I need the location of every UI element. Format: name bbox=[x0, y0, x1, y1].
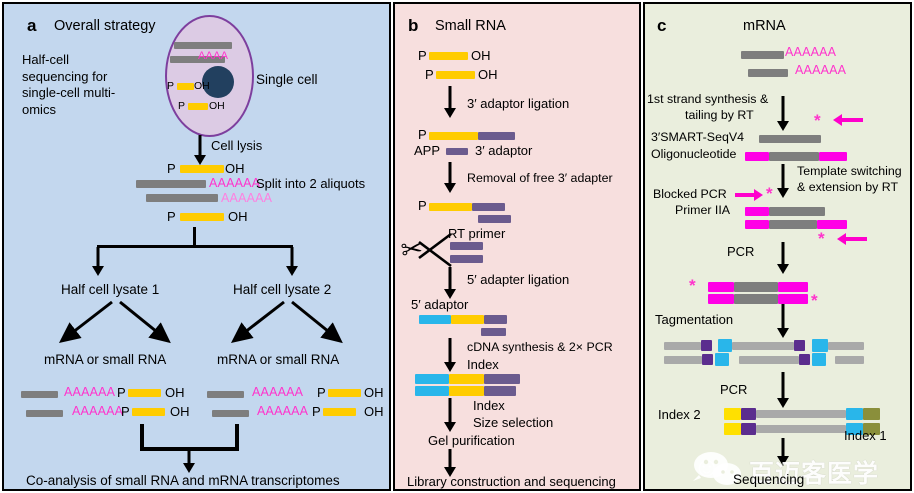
c-blocked-primer-arrow bbox=[735, 189, 763, 201]
b-app-label: APP bbox=[414, 143, 440, 158]
label-5prime-adaptor: 5′ adaptor bbox=[411, 297, 468, 312]
c-tag-r2-cyan-2 bbox=[812, 353, 826, 366]
label-split-aliquots: Split into 2 aliquots bbox=[256, 176, 366, 192]
lysate-small-rna-bar-bottom bbox=[180, 213, 224, 221]
left-group-polyA-1: AAAAAA bbox=[64, 385, 115, 399]
label-extension-by-rt: & extension by RT bbox=[797, 180, 898, 195]
c-pcr-gray-1 bbox=[734, 282, 778, 292]
right-group-polyA-2: AAAAAA bbox=[257, 404, 308, 418]
c-tag-r1-gray-1 bbox=[664, 342, 701, 350]
scissors-cut-lines bbox=[413, 232, 459, 270]
c-step2-magenta-right bbox=[817, 220, 847, 229]
b-final-cyan-2 bbox=[415, 386, 449, 396]
c-pcr-magenta-left-1 bbox=[708, 282, 734, 292]
label-template-switching: Template switching bbox=[797, 164, 902, 179]
label-index-bottom: Index bbox=[473, 398, 505, 413]
lysate-rna-bottom-oh: OH bbox=[228, 209, 248, 224]
b-3prime-adaptor-bar bbox=[478, 132, 515, 140]
cell-rna2-oh: OH bbox=[209, 99, 225, 114]
b-start-rna2-oh: OH bbox=[478, 67, 498, 82]
arrow-cell-lysis bbox=[192, 135, 208, 165]
c-final-cyan-1 bbox=[846, 408, 863, 420]
label-3prime-adaptor-ligation: 3′ adaptor ligation bbox=[467, 96, 569, 111]
b-final-yellow-2 bbox=[449, 386, 484, 396]
b-start-rna2-p: P bbox=[425, 67, 434, 82]
merge-stem-right bbox=[235, 424, 239, 449]
label-oligonucleotide: Oligonucleotide bbox=[651, 147, 736, 162]
b-free-adaptor-bar bbox=[446, 148, 468, 155]
left-group-rna1-p: P bbox=[117, 385, 126, 400]
label-co-analysis: Co-analysis of small RNA and mRNA transc… bbox=[26, 473, 340, 488]
panel-a-overall-strategy: a Overall strategy Half-cell sequencing … bbox=[2, 2, 391, 491]
figure-root: a Overall strategy Half-cell sequencing … bbox=[0, 0, 914, 493]
left-group-rna2-oh: OH bbox=[170, 404, 190, 419]
c-tag-r1-cyan-2 bbox=[812, 339, 828, 352]
right-group-polyA-1: AAAAAA bbox=[252, 385, 303, 399]
right-group-small-rna-bar-2 bbox=[323, 408, 356, 416]
c-pcr-magenta-left-2 bbox=[708, 294, 734, 304]
panel-c-letter: c bbox=[657, 16, 666, 36]
split-stem bbox=[193, 227, 196, 247]
panel-a-intro-text: Half-cell sequencing for single-cell mul… bbox=[22, 52, 137, 118]
label-primer-iia: Primer IIA bbox=[675, 203, 730, 218]
c-tag-r1-purple-1 bbox=[701, 340, 712, 351]
label-branch-1: mRNA or small RNA bbox=[44, 352, 166, 367]
arrow-1st-strand-synthesis bbox=[775, 96, 791, 131]
c-tag-r2-gray-2 bbox=[739, 356, 799, 364]
panel-b-letter: b bbox=[408, 16, 418, 36]
c-tag-r2-cyan-1 bbox=[715, 353, 729, 366]
arrow-to-coanalysis bbox=[181, 449, 197, 473]
lysate-rna-top-oh: OH bbox=[225, 161, 245, 176]
label-index-2: Index 2 bbox=[658, 407, 701, 422]
lysate-small-rna-bar-top bbox=[180, 165, 224, 173]
c-smart-oligo-bar-left bbox=[745, 152, 769, 161]
b-ligated-p: P bbox=[418, 127, 427, 142]
c-tag-r1-gray-2 bbox=[732, 342, 794, 350]
c-final-gray-1 bbox=[756, 410, 846, 418]
c-tag-r1-cyan-1 bbox=[718, 339, 732, 352]
c-mrna-polyA-2: AAAAAA bbox=[795, 63, 846, 77]
c-final-gray-2 bbox=[756, 425, 846, 433]
c-asterisk-5: * bbox=[811, 292, 818, 309]
label-removal-free-3prime-adapter: Removal of free 3′ adapter bbox=[467, 171, 613, 186]
arrow-tagmentation bbox=[775, 304, 791, 338]
b-ligated-rna-bar bbox=[429, 132, 478, 140]
right-group-small-rna-bar-1 bbox=[328, 389, 361, 397]
label-pcr-2: PCR bbox=[720, 382, 747, 397]
arrow-pcr-1 bbox=[775, 242, 791, 274]
label-tailing-by-rt: tailing by RT bbox=[685, 108, 754, 123]
branch-arrows-lysate-2 bbox=[226, 300, 346, 346]
c-asterisk-2: * bbox=[766, 185, 773, 202]
lysate-rna-bottom-p: P bbox=[167, 209, 176, 224]
c-tag-r1-purple-2 bbox=[794, 340, 805, 351]
arrow-3prime-ligation bbox=[442, 86, 458, 118]
label-half-cell-lysate-1: Half cell lysate 1 bbox=[61, 282, 159, 297]
b-removed-p: P bbox=[418, 198, 427, 213]
b-start-rna1-p: P bbox=[418, 48, 427, 63]
c-asterisk-3: * bbox=[818, 230, 825, 247]
arrow-to-lysate-1 bbox=[90, 247, 106, 276]
panel-a-letter: a bbox=[27, 16, 36, 36]
b-5prime-adaptor-bar bbox=[419, 315, 451, 324]
b-final-yellow-1 bbox=[449, 374, 484, 384]
c-tag-r2-purple-2 bbox=[799, 354, 810, 365]
arrow-to-lysate-2 bbox=[284, 247, 300, 276]
c-tag-r1-gray-3 bbox=[828, 342, 864, 350]
label-half-cell-lysate-2: Half cell lysate 2 bbox=[233, 282, 331, 297]
c-final-yellow-1 bbox=[724, 408, 741, 420]
c-cdna-gray-bar-2 bbox=[769, 152, 819, 161]
right-group-rna1-p: P bbox=[317, 385, 326, 400]
c-final-purple-1 bbox=[741, 408, 756, 420]
label-smart-seqv4: 3′SMART-SeqV4 bbox=[651, 130, 744, 145]
arrow-size-selection bbox=[442, 398, 458, 432]
label-blocked-pcr: Blocked PCR bbox=[653, 187, 727, 202]
c-pcr-magenta-right-1 bbox=[778, 282, 808, 292]
label-5prime-adapter-ligation: 5′ adapter ligation bbox=[467, 272, 569, 287]
label-library-construction-sequencing: Library construction and sequencing bbox=[407, 474, 616, 489]
left-group-polyA-2: AAAAAA bbox=[72, 404, 123, 418]
c-step2-gray-1 bbox=[769, 207, 825, 216]
c-final-yellow-2 bbox=[724, 423, 741, 435]
left-group-rna1-oh: OH bbox=[165, 385, 185, 400]
arrow-removal-free-adapter bbox=[442, 162, 458, 193]
c-step2-gray-2 bbox=[769, 220, 817, 229]
left-group-small-rna-bar-2 bbox=[132, 408, 165, 416]
label-index-1: Index 1 bbox=[844, 428, 887, 443]
right-group-rna2-p: P bbox=[312, 404, 321, 419]
c-step2-magenta-left-1 bbox=[745, 207, 769, 216]
left-group-mrna-bar-2 bbox=[26, 410, 63, 417]
b-start-small-rna-bar-2 bbox=[436, 71, 475, 79]
cell-polyA-tail: AAAA bbox=[198, 50, 228, 62]
cell-rna1-oh: OH bbox=[194, 79, 210, 94]
left-group-small-rna-bar-1 bbox=[128, 389, 161, 397]
label-3prime-adaptor: 3′ adaptor bbox=[475, 143, 532, 158]
c-primer-arrow-2 bbox=[837, 233, 867, 245]
label-1st-strand-synthesis: 1st strand synthesis & bbox=[647, 92, 768, 107]
right-group-rna1-oh: OH bbox=[364, 385, 384, 400]
label-index-top: Index bbox=[467, 357, 499, 372]
b-final-purple-2 bbox=[484, 386, 516, 396]
lysate-mrna-bar-2 bbox=[146, 194, 218, 202]
split-crossbar bbox=[97, 245, 293, 248]
label-cell-lysis: Cell lysis bbox=[211, 138, 262, 153]
label-branch-2: mRNA or small RNA bbox=[217, 352, 339, 367]
single-cell-label: Single cell bbox=[256, 72, 318, 87]
arrow-cdna-synthesis-pcr bbox=[442, 338, 458, 372]
c-cdna-gray-bar-1 bbox=[759, 135, 821, 143]
panel-c-mrna: c mRNA AAAAAA AAAAAA 1st strand synthesi… bbox=[643, 2, 912, 491]
arrow-5prime-ligation bbox=[442, 267, 458, 299]
b-rna-bar-after5 bbox=[451, 315, 484, 324]
arrow-pcr-2 bbox=[775, 372, 791, 408]
b-start-small-rna-bar-1 bbox=[429, 52, 468, 60]
c-pcr-gray-2 bbox=[734, 294, 778, 304]
left-group-rna2-p: P bbox=[121, 404, 130, 419]
b-rt-primer-bar-1 bbox=[478, 215, 511, 223]
label-cdna-synthesis-pcr: cDNA synthesis & 2× PCR bbox=[467, 340, 613, 355]
c-tag-r2-gray-1 bbox=[664, 356, 702, 364]
cell-small-rna-bar-2 bbox=[188, 103, 208, 110]
c-tag-r2-purple-1 bbox=[702, 354, 713, 365]
panel-b-title: Small RNA bbox=[435, 18, 506, 34]
label-gel-purification: Gel purification bbox=[428, 433, 515, 448]
c-final-purple-2 bbox=[741, 423, 756, 435]
c-pcr-magenta-right-2 bbox=[778, 294, 808, 304]
c-asterisk-1: * bbox=[814, 112, 821, 129]
cell-mrna-bar-1 bbox=[174, 42, 232, 49]
panel-b-small-rna: b Small RNA P OH P OH 3′ adaptor ligatio… bbox=[393, 2, 641, 491]
c-mrna-bar-2 bbox=[748, 69, 788, 77]
b-3prime-adaptor-after5 bbox=[484, 315, 507, 324]
c-mrna-polyA-1: AAAAAA bbox=[785, 45, 836, 59]
arrow-library-construction bbox=[442, 449, 458, 477]
cell-rna1-p: P bbox=[167, 79, 174, 94]
c-smart-oligo-bar-right bbox=[819, 152, 847, 161]
c-primer-arrow-1 bbox=[833, 114, 863, 126]
b-final-purple-1 bbox=[484, 374, 520, 384]
lysate-mrna-bar-1 bbox=[136, 180, 206, 188]
c-mrna-bar-1 bbox=[741, 51, 784, 59]
right-group-rna2-oh: OH bbox=[364, 404, 384, 419]
branch-arrows-lysate-1 bbox=[54, 300, 174, 346]
label-pcr-1: PCR bbox=[727, 244, 754, 259]
arrow-template-switching bbox=[775, 164, 791, 198]
cell-small-rna-bar-1 bbox=[177, 83, 194, 90]
panel-a-title: Overall strategy bbox=[54, 18, 156, 34]
panel-c-title: mRNA bbox=[743, 18, 786, 34]
c-asterisk-4: * bbox=[689, 277, 696, 294]
right-group-mrna-bar-1 bbox=[207, 391, 244, 398]
b-final-cyan-1 bbox=[415, 374, 449, 384]
left-group-mrna-bar-1 bbox=[21, 391, 58, 398]
b-rt-primer-after5 bbox=[481, 328, 506, 336]
lysate-rna-top-p: P bbox=[167, 161, 176, 176]
lysate-polyA-1: AAAAAA bbox=[209, 176, 260, 190]
b-start-rna1-oh: OH bbox=[471, 48, 491, 63]
right-group-mrna-bar-2 bbox=[212, 410, 249, 417]
c-tag-r2-gray-3 bbox=[835, 356, 864, 364]
label-size-selection: Size selection bbox=[473, 415, 553, 430]
b-removed-adaptor-bar bbox=[472, 203, 505, 211]
label-sequencing: Sequencing bbox=[733, 472, 804, 487]
lysate-polyA-2: AAAAAA bbox=[221, 191, 272, 205]
merge-stem-left bbox=[140, 424, 144, 449]
c-final-olive-1 bbox=[863, 408, 880, 420]
b-removed-rna-bar bbox=[429, 203, 472, 211]
cell-rna2-p: P bbox=[178, 99, 185, 114]
label-tagmentation: Tagmentation bbox=[655, 312, 733, 327]
c-step2-magenta-left-2 bbox=[745, 220, 769, 229]
